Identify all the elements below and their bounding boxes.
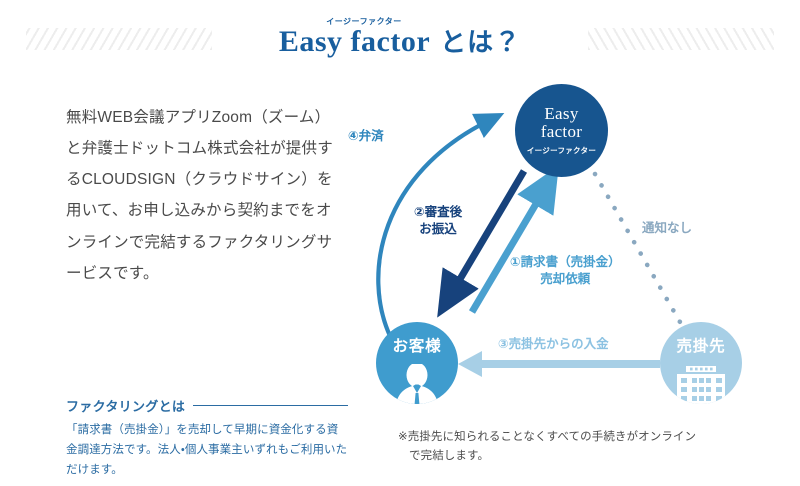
- label-step3-payment: ③売掛先からの入金: [498, 336, 609, 353]
- lead-paragraph: 無料WEB会議アプリZoom（ズーム）と弁護士ドットコム株式会社が提供するCLO…: [66, 102, 344, 290]
- line-no-notification: [595, 174, 680, 322]
- label-step1-line1: ①請求書（売掛金）: [510, 255, 621, 269]
- page-title-line: Easy factorとは？: [0, 26, 800, 58]
- label-step2-line2: お振込: [419, 222, 457, 236]
- diagram-note-line1: ※売掛先に知られることなくすべての手続きがオンライン: [398, 431, 696, 443]
- node-debtor-label: 売掛先: [677, 334, 726, 356]
- page-title-english: Easy factor: [279, 25, 430, 58]
- footnote-block: ファクタリングとは 「請求書（売掛金）」を売却して早期に資金化する資金調達方法で…: [66, 396, 348, 480]
- footnote-body: 「請求書（売掛金）」を売却して早期に資金化する資金調達方法です。法人・個人事業主…: [66, 420, 348, 480]
- label-step2-line1: ②審査後: [414, 205, 462, 219]
- building-icon: [673, 366, 729, 404]
- node-easy-factor[interactable]: Easy factor イージーファクター: [515, 84, 608, 177]
- label-no-notification: 通知なし: [642, 220, 692, 237]
- node-easy-factor-name-line2: factor: [541, 122, 582, 141]
- arrow-step3-payment: [458, 351, 660, 377]
- page-title: イージーファクター Easy factorとは？: [0, 16, 800, 58]
- label-step1-request: ①請求書（売掛金） 売却依頼: [510, 254, 621, 287]
- arrow-step1-request: [472, 187, 546, 312]
- node-customer[interactable]: お客様: [376, 322, 458, 404]
- label-step1-line2: 売却依頼: [540, 272, 590, 286]
- footnote-title-text: ファクタリングとは: [66, 396, 185, 415]
- flow-diagram: Easy factor イージーファクター お客様 売掛先: [350, 74, 800, 424]
- footnote-title: ファクタリングとは: [66, 396, 348, 415]
- footnote-divider: [193, 405, 348, 406]
- label-step4-repayment: ④弁済: [348, 128, 384, 145]
- node-easy-factor-name: Easy factor: [541, 105, 582, 142]
- node-customer-label: お客様: [393, 334, 442, 356]
- node-easy-factor-ruby: イージーファクター: [527, 145, 596, 156]
- diagram-note: ※売掛先に知られることなくすべての手続きがオンライン で完結します。: [398, 428, 748, 465]
- node-debtor[interactable]: 売掛先: [660, 322, 742, 404]
- page-title-japanese: とは？: [440, 27, 521, 57]
- label-step2-transfer: ②審査後 お振込: [414, 204, 462, 237]
- node-easy-factor-name-line1: Easy: [544, 104, 578, 123]
- diagram-note-line2: で完結します。: [398, 447, 748, 466]
- person-icon: [391, 364, 443, 404]
